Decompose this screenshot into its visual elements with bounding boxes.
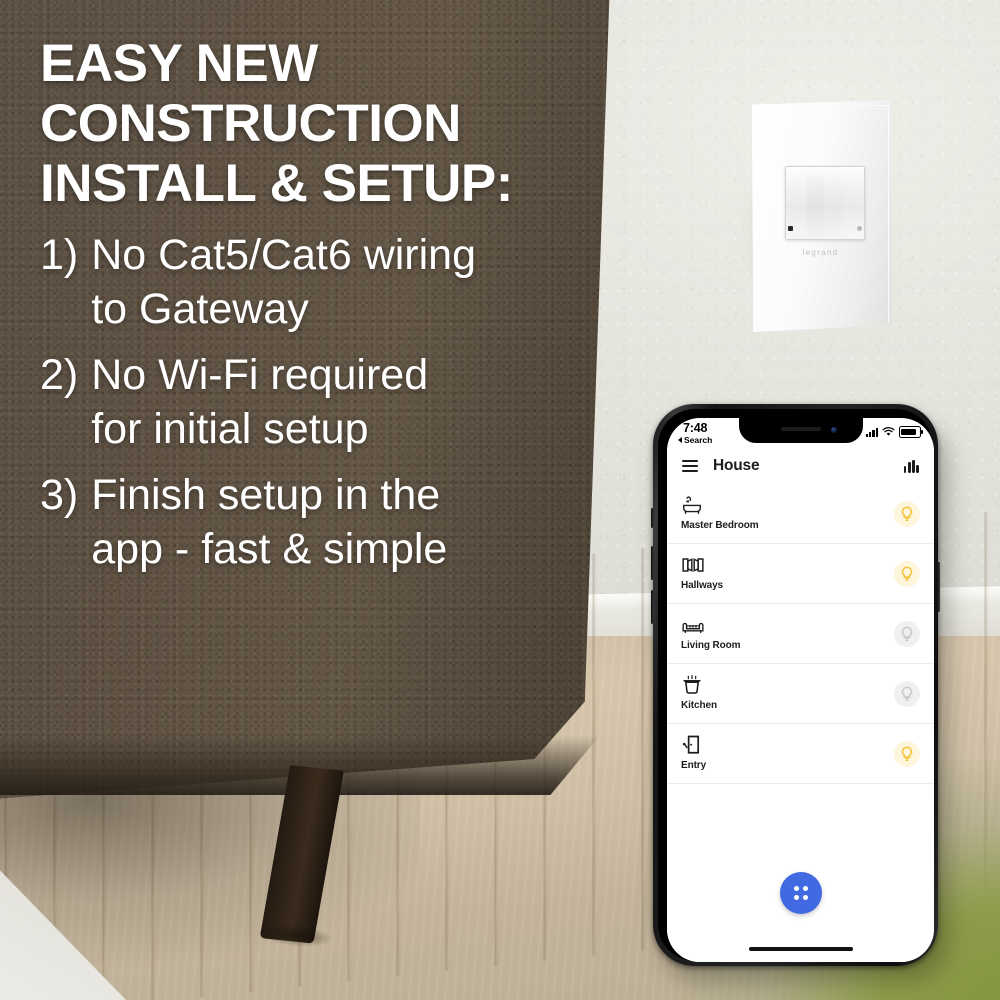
wall-switch-plate: legrand (749, 100, 892, 332)
phone-screen: 7:48 Search (667, 418, 934, 962)
bulb-on-icon (900, 506, 914, 522)
volume-up-button[interactable] (651, 546, 654, 580)
list-item[interactable]: Hallways (667, 544, 934, 604)
list-item: 3) Finish setup in the app - fast & simp… (40, 468, 600, 576)
paddle-status-led (788, 226, 793, 231)
room-name: Master Bedroom (681, 520, 920, 531)
brand-mark: legrand (749, 248, 892, 257)
promo-image: EASY NEW CONSTRUCTION INSTALL & SETUP: 1… (0, 0, 1000, 1000)
add-device-fab[interactable] (780, 872, 822, 914)
list-item[interactable]: Entry (667, 724, 934, 784)
bulb-off-icon (900, 686, 914, 702)
hamburger-menu-icon[interactable] (682, 460, 698, 472)
step-number: 3) (40, 468, 78, 522)
light-bulb-toggle[interactable] (894, 501, 920, 527)
room-name: Hallways (681, 580, 920, 591)
wifi-icon (882, 427, 895, 437)
steps-list: 1) No Cat5/Cat6 wiring to Gateway 2) No … (40, 228, 600, 576)
sofa-icon (681, 613, 920, 635)
pot-icon (681, 673, 920, 695)
smartphone: 7:48 Search (653, 404, 943, 970)
light-bulb-toggle[interactable] (894, 681, 920, 707)
volume-down-button[interactable] (651, 590, 654, 624)
app-title: House (713, 457, 759, 475)
battery-icon (899, 426, 921, 438)
front-camera (831, 427, 837, 433)
bulb-on-icon (900, 746, 914, 762)
home-indicator-bar[interactable] (749, 947, 853, 951)
app-header: House (667, 448, 934, 484)
bathtub-icon (681, 493, 920, 515)
room-name: Living Room (681, 640, 920, 651)
promo-copy: EASY NEW CONSTRUCTION INSTALL & SETUP: 1… (40, 34, 600, 588)
step-text: No Wi-Fi required for initial setup (91, 348, 600, 456)
bulb-on-icon (900, 566, 914, 582)
grid-dots-icon (794, 886, 808, 900)
light-bulb-toggle[interactable] (894, 741, 920, 767)
phone-bezel: 7:48 Search (658, 409, 933, 961)
paddle-dimmer-dot (857, 226, 862, 231)
bar-levels-icon[interactable] (904, 460, 919, 473)
back-triangle-icon (678, 437, 682, 443)
light-bulb-toggle[interactable] (894, 621, 920, 647)
back-label: Search (684, 435, 712, 445)
room-name: Entry (681, 760, 920, 771)
light-bulb-toggle[interactable] (894, 561, 920, 587)
room-name: Kitchen (681, 700, 920, 711)
step-number: 1) (40, 228, 78, 282)
list-item: 2) No Wi-Fi required for initial setup (40, 348, 600, 456)
door-icon (681, 733, 920, 755)
earpiece-speaker (781, 427, 821, 431)
back-to-search-link[interactable]: Search (678, 435, 712, 445)
list-item: 1) No Cat5/Cat6 wiring to Gateway (40, 228, 600, 336)
list-item[interactable]: Living Room (667, 604, 934, 664)
bulb-off-icon (900, 626, 914, 642)
paddle-reflection (786, 167, 864, 239)
status-indicators (866, 426, 921, 438)
mute-switch[interactable] (651, 508, 654, 528)
list-item[interactable]: Master Bedroom (667, 484, 934, 544)
list-item[interactable]: Kitchen (667, 664, 934, 724)
page-title: EASY NEW CONSTRUCTION INSTALL & SETUP: (40, 34, 600, 214)
step-text: No Cat5/Cat6 wiring to Gateway (91, 228, 600, 336)
hallway-icon (681, 553, 920, 575)
step-number: 2) (40, 348, 78, 402)
switch-paddle[interactable] (785, 166, 865, 240)
cellular-signal-icon (866, 428, 878, 437)
status-time: 7:48 (683, 421, 707, 435)
phone-notch (739, 418, 863, 443)
step-text: Finish setup in the app - fast & simple (91, 468, 600, 576)
power-button[interactable] (937, 562, 940, 612)
phone-frame: 7:48 Search (653, 404, 938, 966)
